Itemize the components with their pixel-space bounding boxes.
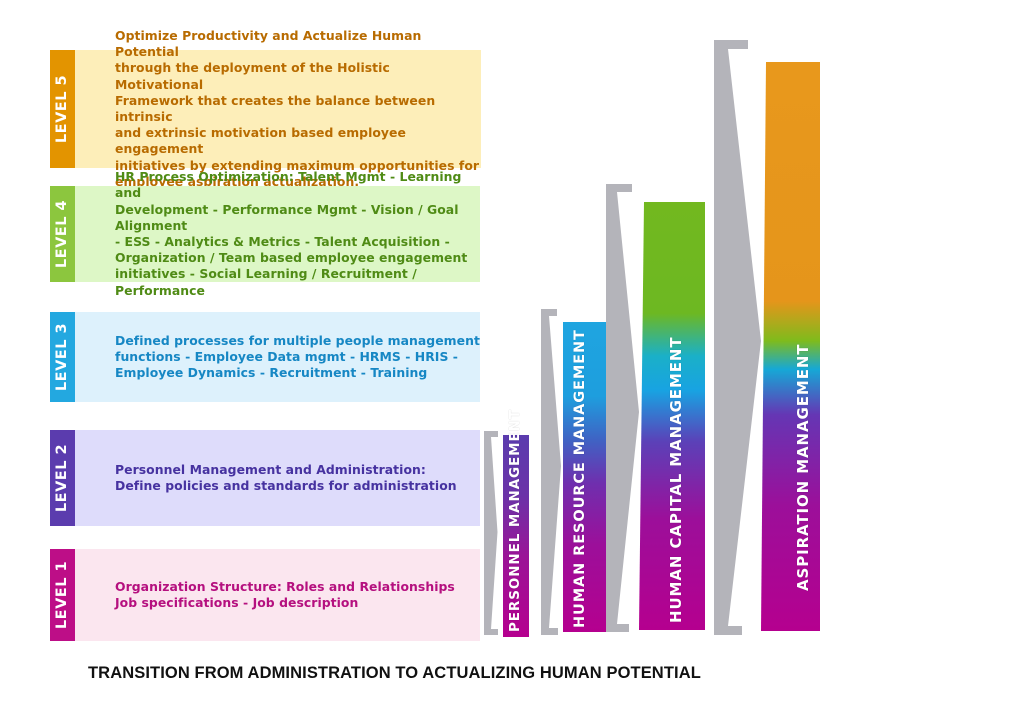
level-4-tab: LEVEL 4	[50, 186, 75, 282]
level-1-line: Organization Structure: Roles and Relati…	[115, 579, 480, 595]
level-2-body: Personnel Management and Administration:…	[75, 430, 480, 526]
diagram-canvas: LEVEL 5 Optimize Productivity and Actual…	[0, 0, 1024, 711]
bracket-shape-hcm	[606, 184, 639, 632]
bar-aspiration[interactable]: ASPIRATION MANAGEMENT	[714, 36, 824, 644]
level-5-tab-label: LEVEL 5	[55, 75, 71, 143]
level-4-body: HR Process Optimization: Talent Mgmt - L…	[75, 186, 480, 282]
level-1-tab-label: LEVEL 1	[55, 561, 71, 629]
level-4-line: Development - Performance Mgmt - Vision …	[115, 202, 480, 234]
bracket-shape-hr	[541, 309, 561, 635]
level-2-line: Personnel Management and Administration:	[115, 462, 480, 478]
level-2-line: Define policies and standards for admini…	[115, 478, 480, 494]
bar-shape-hcm-taper	[639, 202, 644, 630]
level-1-line: Job specifications - Job description	[115, 595, 480, 611]
level-5-body: Optimize Productivity and Actualize Huma…	[75, 50, 481, 168]
bar-hr-label: HUMAN RESOURCE MANAGEMENT	[572, 329, 588, 628]
level-5-line: Optimize Productivity and Actualize Huma…	[115, 28, 481, 60]
level-1-tab: LEVEL 1	[50, 549, 75, 641]
level-4-line: Organization / Team based employee engag…	[115, 250, 480, 266]
level-4-line: HR Process Optimization: Talent Mgmt - L…	[115, 169, 480, 201]
level-3-line: Defined processes for multiple people ma…	[115, 333, 480, 349]
level-4-line: - ESS - Analytics & Metrics - Talent Acq…	[115, 234, 480, 250]
bar-personnel-label: PERSONNEL MANAGEMENT	[507, 409, 523, 632]
level-row-3[interactable]: LEVEL 3 Defined processes for multiple p…	[50, 312, 480, 402]
level-3-body: Defined processes for multiple people ma…	[75, 312, 480, 402]
level-5-line: and extrinsic motivation based employee …	[115, 125, 481, 157]
level-1-body: Organization Structure: Roles and Relati…	[75, 549, 480, 641]
level-5-line: Framework that creates the balance betwe…	[115, 93, 481, 125]
bar-shape-aspiration-taper	[761, 62, 766, 631]
level-3-tab: LEVEL 3	[50, 312, 75, 402]
bar-hcm[interactable]: HUMAN CAPITAL MANAGEMENT	[606, 180, 711, 642]
bar-hcm-label: HUMAN CAPITAL MANAGEMENT	[667, 336, 685, 623]
level-4-line: initiatives - Social Learning / Recruitm…	[115, 266, 480, 298]
level-row-4[interactable]: LEVEL 4 HR Process Optimization: Talent …	[50, 186, 480, 282]
bracket-shape-personnel	[484, 431, 498, 635]
level-2-tab: LEVEL 2	[50, 430, 75, 526]
level-2-tab-label: LEVEL 2	[55, 444, 71, 512]
level-5-tab: LEVEL 5	[50, 50, 75, 168]
level-4-tab-label: LEVEL 4	[55, 200, 71, 268]
bracket-shape-aspiration	[714, 40, 761, 635]
level-row-1[interactable]: LEVEL 1 Organization Structure: Roles an…	[50, 549, 480, 641]
footer-title: TRANSITION FROM ADMINISTRATION TO ACTUAL…	[88, 664, 701, 683]
level-row-5[interactable]: LEVEL 5 Optimize Productivity and Actual…	[50, 50, 481, 168]
level-row-2[interactable]: LEVEL 2 Personnel Management and Adminis…	[50, 430, 480, 526]
level-5-line: through the deployment of the Holistic M…	[115, 60, 481, 92]
bar-aspiration-label: ASPIRATION MANAGEMENT	[794, 344, 812, 591]
level-3-tab-label: LEVEL 3	[55, 323, 71, 391]
level-3-line: functions - Employee Data mgmt - HRMS - …	[115, 349, 480, 365]
level-3-line: Employee Dynamics - Recruitment - Traini…	[115, 365, 480, 381]
